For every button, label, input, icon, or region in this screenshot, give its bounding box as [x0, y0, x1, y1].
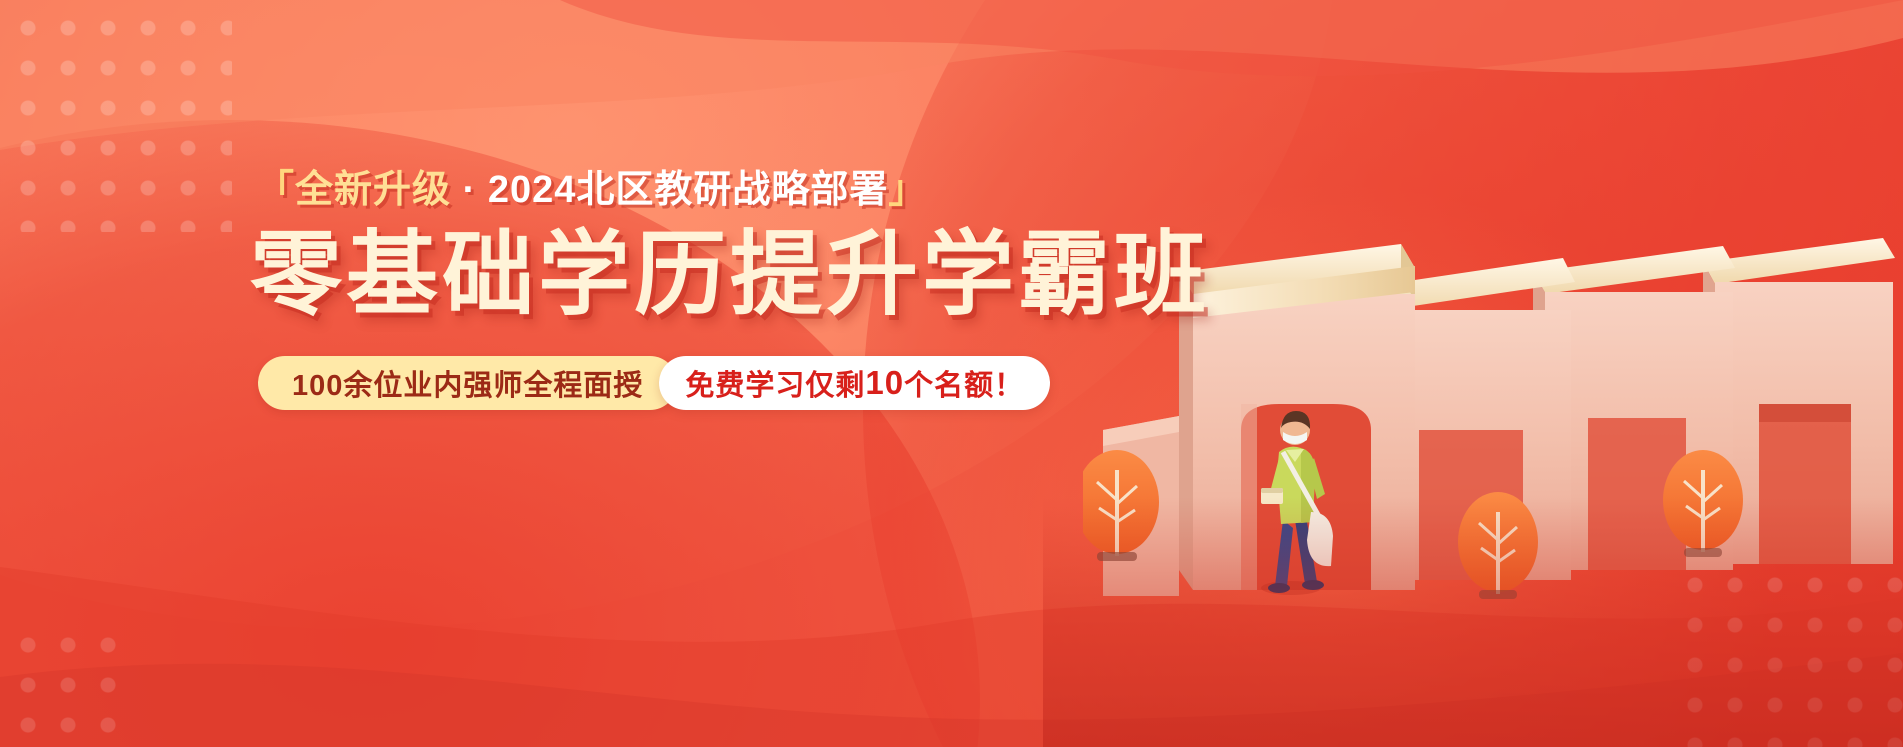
- eyebrow-gold-text: 全新升级: [295, 169, 451, 211]
- illustration: [1083, 0, 1903, 747]
- bracket-open: 「: [256, 169, 295, 211]
- badge-free-slots-prefix: 免费学习仅剩: [685, 362, 865, 404]
- badge-free-slots: 免费学习仅剩10个名额！: [659, 356, 1050, 410]
- badge-free-slots-suffix: 个名额！: [904, 362, 1024, 404]
- badge-free-slots-number: 10: [865, 364, 904, 402]
- copy-block: 「全新升级 · 2024北区教研战略部署」 零基础学历提升学霸班 100余位业内…: [0, 0, 1100, 747]
- badge-row: 100余位业内强师全程面授 免费学习仅剩10个名额！: [258, 356, 1050, 410]
- ground-shadow: [1043, 497, 1903, 747]
- badge-instructors: 100余位业内强师全程面授: [258, 356, 677, 410]
- eyebrow-white-text: 2024北区教研战略部署: [488, 169, 889, 211]
- eyebrow-separator: ·: [451, 169, 488, 211]
- promo-banner: 「全新升级 · 2024北区教研战略部署」 零基础学历提升学霸班 100余位业内…: [0, 0, 1903, 747]
- eyebrow-text: 「全新升级 · 2024北区教研战略部署」: [256, 158, 927, 213]
- bracket-close: 」: [888, 169, 927, 211]
- headline-text: 零基础学历提升学霸班: [250, 226, 1210, 325]
